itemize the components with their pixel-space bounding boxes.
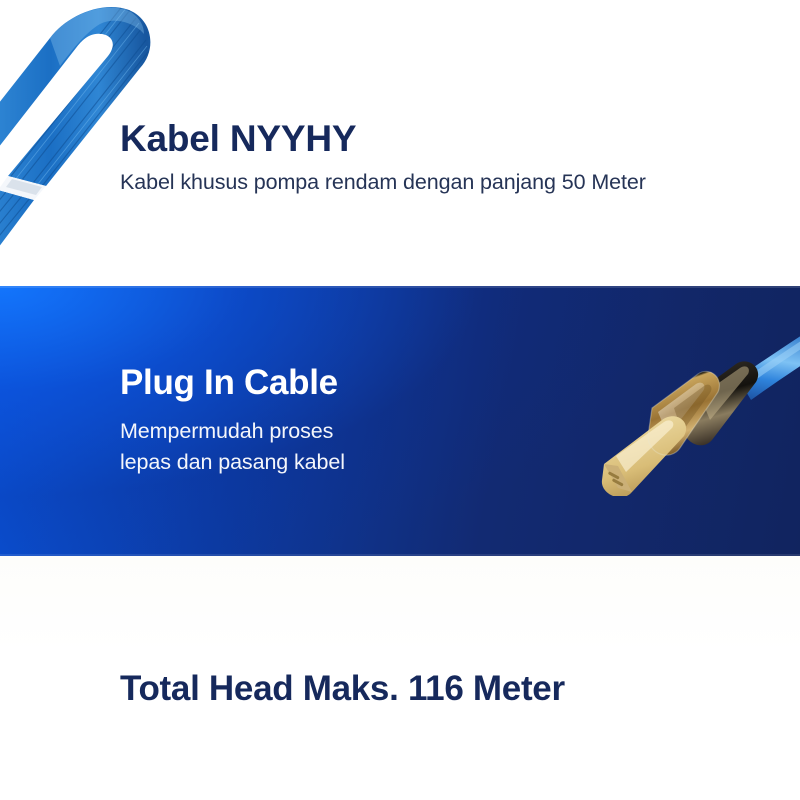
plug-in-connector-icon: [588, 316, 800, 496]
page-subtitle: Kabel khusus pompa rendam dengan panjang…: [120, 170, 780, 195]
feature-text-block: Plug In Cable Mempermudah proses lepas d…: [120, 364, 540, 478]
feature-body-line-2: lepas dan pasang kabel: [120, 447, 540, 478]
header-section: Kabel NYYHY Kabel khusus pompa rendam de…: [0, 0, 800, 286]
feature-title: Plug In Cable: [120, 364, 540, 403]
feature-panel: Plug In Cable Mempermudah proses lepas d…: [0, 286, 800, 556]
page-title: Kabel NYYHY: [120, 118, 780, 159]
panel-top-divider: [0, 286, 800, 288]
footer-section: Total Head Maks. 116 Meter: [0, 556, 800, 800]
header-text-block: Kabel NYYHY Kabel khusus pompa rendam de…: [120, 118, 780, 195]
footer-title: Total Head Maks. 116 Meter: [120, 669, 565, 709]
product-feature-graphic: Kabel NYYHY Kabel khusus pompa rendam de…: [0, 0, 800, 800]
feature-body-line-1: Mempermudah proses: [120, 416, 540, 447]
